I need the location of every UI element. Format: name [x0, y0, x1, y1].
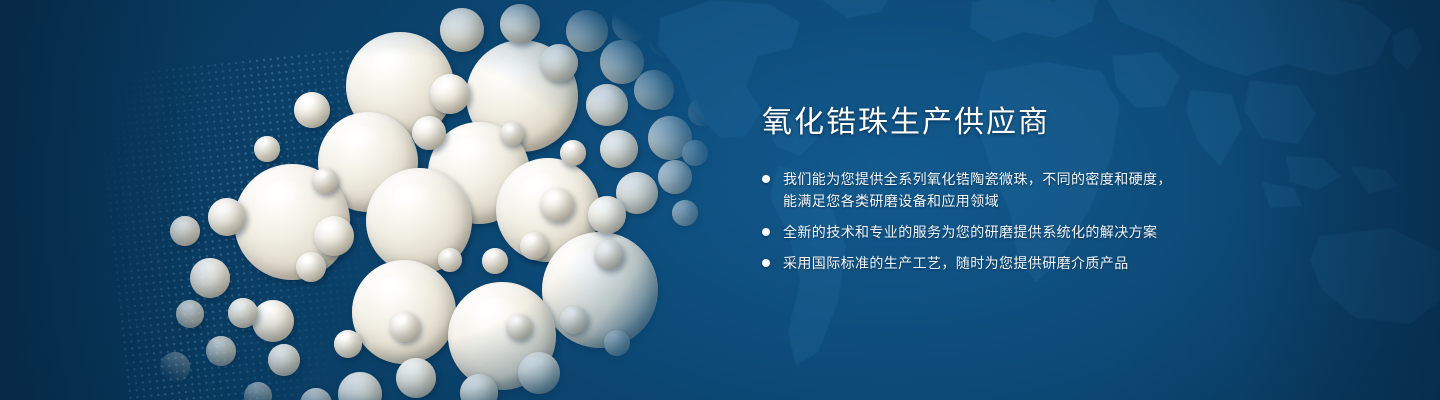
bullet-text: 全新的技术和专业的服务为您的研磨提供系统化的解决方案	[783, 221, 1157, 243]
hero-banner: 氧化锆珠生产供应商 我们能为您提供全系列氧化锆陶瓷微珠，不同的密度和硬度， 能满…	[0, 0, 1440, 400]
list-item: 采用国际标准的生产工艺，随时为您提供研磨介质产品	[762, 252, 1282, 274]
banner-headline: 氧化锆珠生产供应商	[762, 104, 1282, 142]
bullet-dot-icon	[762, 175, 770, 183]
bullet-dot-icon	[762, 228, 770, 236]
bullet-line: 采用国际标准的生产工艺，随时为您提供研磨介质产品	[783, 252, 1129, 274]
bullet-line: 能满足您各类研磨设备和应用领域	[783, 190, 1172, 212]
bullet-text: 我们能为您提供全系列氧化锆陶瓷微珠，不同的密度和硬度， 能满足您各类研磨设备和应…	[783, 168, 1172, 212]
bullet-text: 采用国际标准的生产工艺，随时为您提供研磨介质产品	[783, 252, 1129, 274]
list-item: 全新的技术和专业的服务为您的研磨提供系统化的解决方案	[762, 221, 1282, 243]
bullet-dot-icon	[762, 259, 770, 267]
bullet-line: 全新的技术和专业的服务为您的研磨提供系统化的解决方案	[783, 221, 1157, 243]
banner-copy: 氧化锆珠生产供应商 我们能为您提供全系列氧化锆陶瓷微珠，不同的密度和硬度， 能满…	[762, 104, 1282, 283]
banner-bullet-list: 我们能为您提供全系列氧化锆陶瓷微珠，不同的密度和硬度， 能满足您各类研磨设备和应…	[762, 168, 1282, 274]
list-item: 我们能为您提供全系列氧化锆陶瓷微珠，不同的密度和硬度， 能满足您各类研磨设备和应…	[762, 168, 1282, 212]
bullet-line: 我们能为您提供全系列氧化锆陶瓷微珠，不同的密度和硬度，	[783, 168, 1172, 190]
